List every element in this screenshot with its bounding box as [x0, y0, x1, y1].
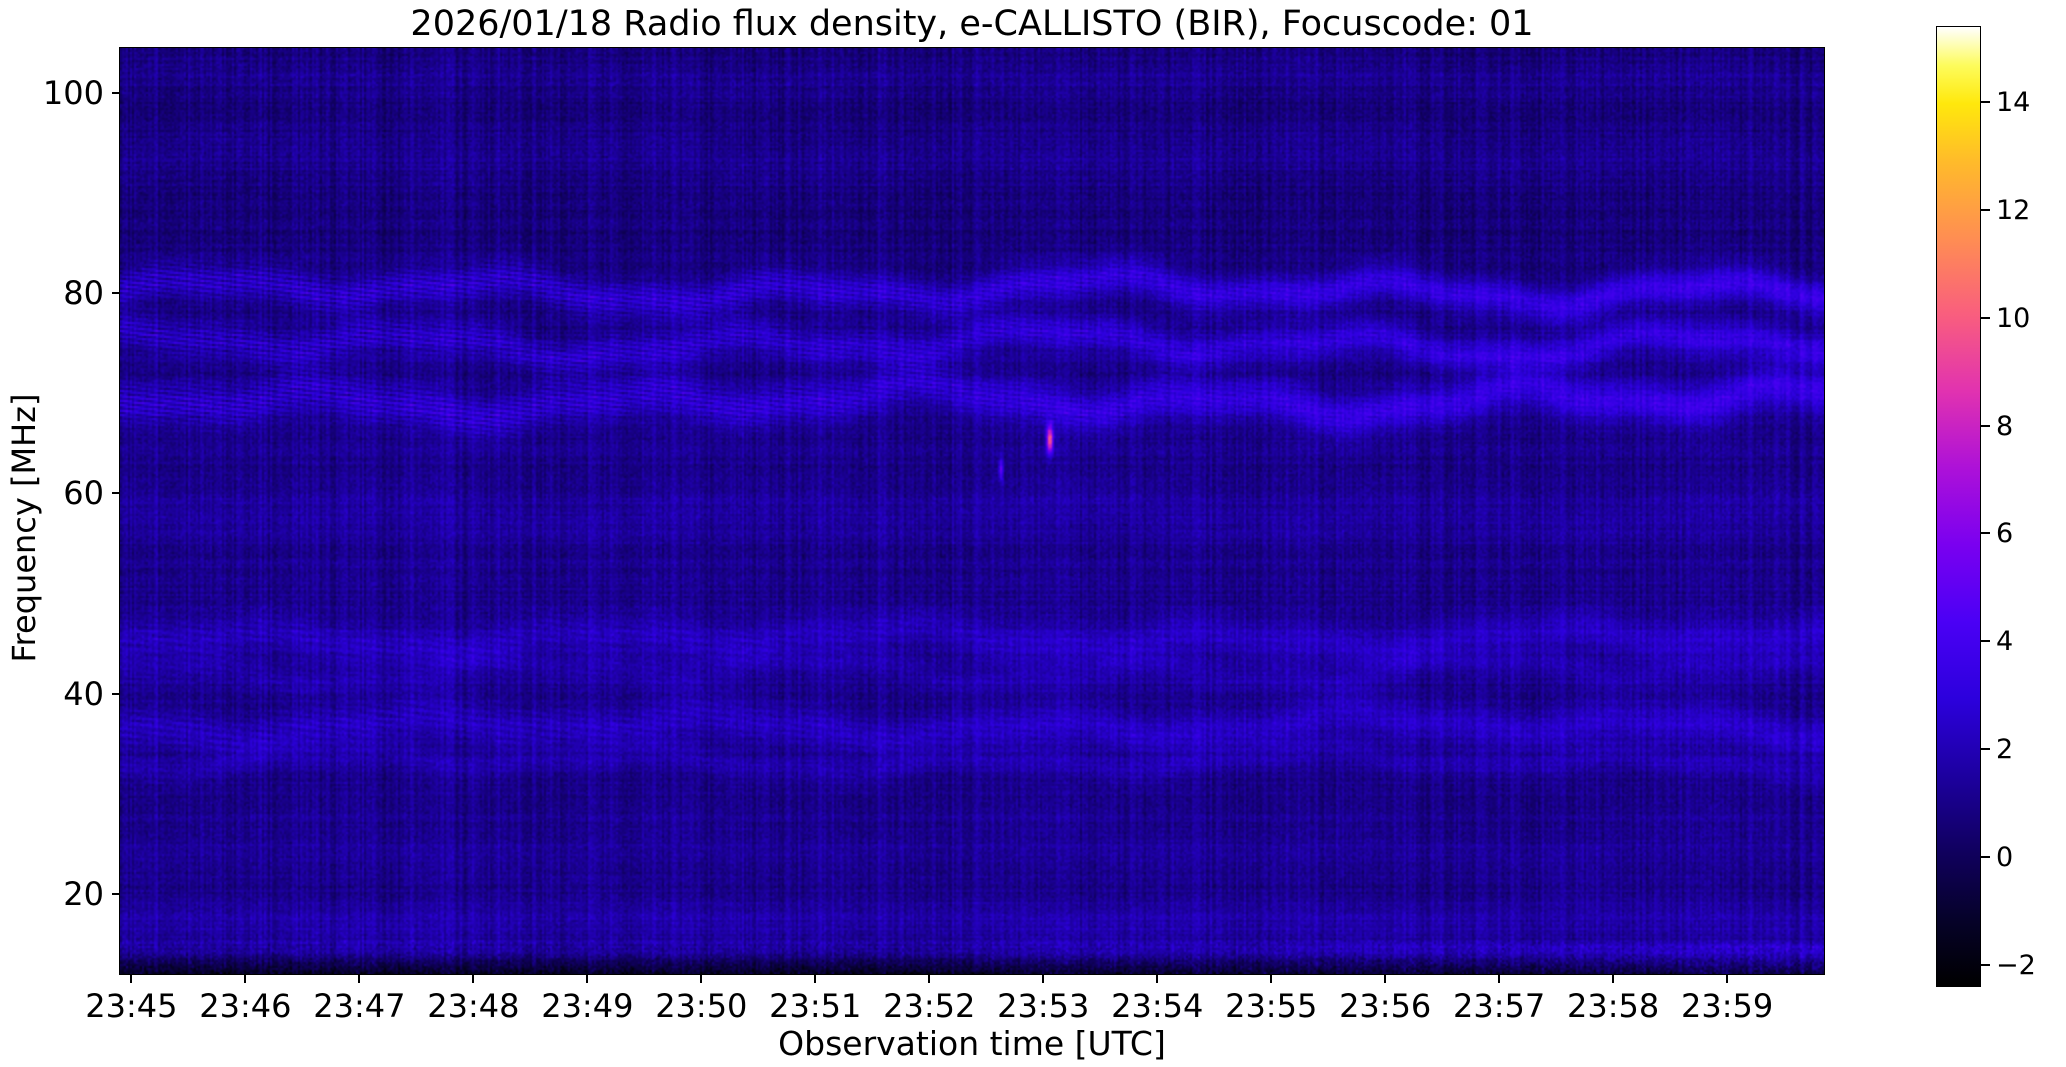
colorbar-tick-label: 4	[1996, 628, 2013, 655]
y-axis-label: Frequency [MHz]	[7, 298, 41, 758]
colorbar-tick-mark	[1981, 101, 1990, 103]
figure-canvas: 2026/01/18 Radio flux density, e-CALLIST…	[0, 0, 2066, 1067]
colorbar-gradient	[1936, 26, 1981, 987]
y-tick-label: 100	[0, 77, 104, 109]
x-tick-mark	[1726, 974, 1728, 983]
spectrogram-image	[120, 48, 1824, 974]
x-tick-mark	[1384, 974, 1386, 983]
spectrogram-canvas	[120, 48, 1824, 974]
y-tick-mark	[112, 92, 120, 94]
y-tick-mark	[112, 292, 120, 294]
colorbar-tick-label: 2	[1996, 736, 2013, 763]
colorbar-tick-label: 8	[1996, 413, 2013, 440]
x-tick-mark	[700, 974, 702, 983]
colorbar-tick-label: 10	[1996, 305, 2030, 332]
colorbar-tick-mark	[1981, 748, 1990, 750]
colorbar-tick-mark	[1981, 532, 1990, 534]
x-tick-mark	[1612, 974, 1614, 983]
colorbar-tick-mark	[1981, 856, 1990, 858]
colorbar-tick-mark	[1981, 317, 1990, 319]
colorbar-tick-label: 6	[1996, 520, 2013, 547]
colorbar-tick-mark	[1981, 640, 1990, 642]
x-tick-mark	[1156, 974, 1158, 983]
x-tick-label: 23:59	[1647, 989, 1807, 1023]
x-tick-mark	[928, 974, 930, 983]
colorbar-tick-mark	[1981, 209, 1990, 211]
colorbar-tick-mark	[1981, 425, 1990, 427]
x-tick-mark	[1270, 974, 1272, 983]
colorbar-tick-label: 12	[1996, 197, 2030, 224]
x-tick-mark	[586, 974, 588, 983]
x-tick-mark	[358, 974, 360, 983]
y-tick-mark	[112, 893, 120, 895]
colorbar-tick-label: 14	[1996, 89, 2030, 116]
y-tick-label: 20	[0, 878, 104, 910]
spectrogram-axes[interactable]	[119, 47, 1825, 975]
y-tick-mark	[112, 492, 120, 494]
colorbar[interactable]: 14121086420−2	[1936, 26, 1981, 987]
x-axis-label: Observation time [UTC]	[120, 1026, 1824, 1062]
x-tick-mark	[1042, 974, 1044, 983]
colorbar-tick-label: −2	[1996, 952, 2036, 979]
x-tick-mark	[814, 974, 816, 983]
colorbar-tick-label: 0	[1996, 844, 2013, 871]
x-tick-mark	[472, 974, 474, 983]
x-tick-mark	[130, 974, 132, 983]
x-tick-mark	[1498, 974, 1500, 983]
page-title: 2026/01/18 Radio flux density, e-CALLIST…	[120, 2, 1824, 46]
x-tick-mark	[244, 974, 246, 983]
colorbar-tick-mark	[1981, 964, 1990, 966]
y-tick-mark	[112, 693, 120, 695]
